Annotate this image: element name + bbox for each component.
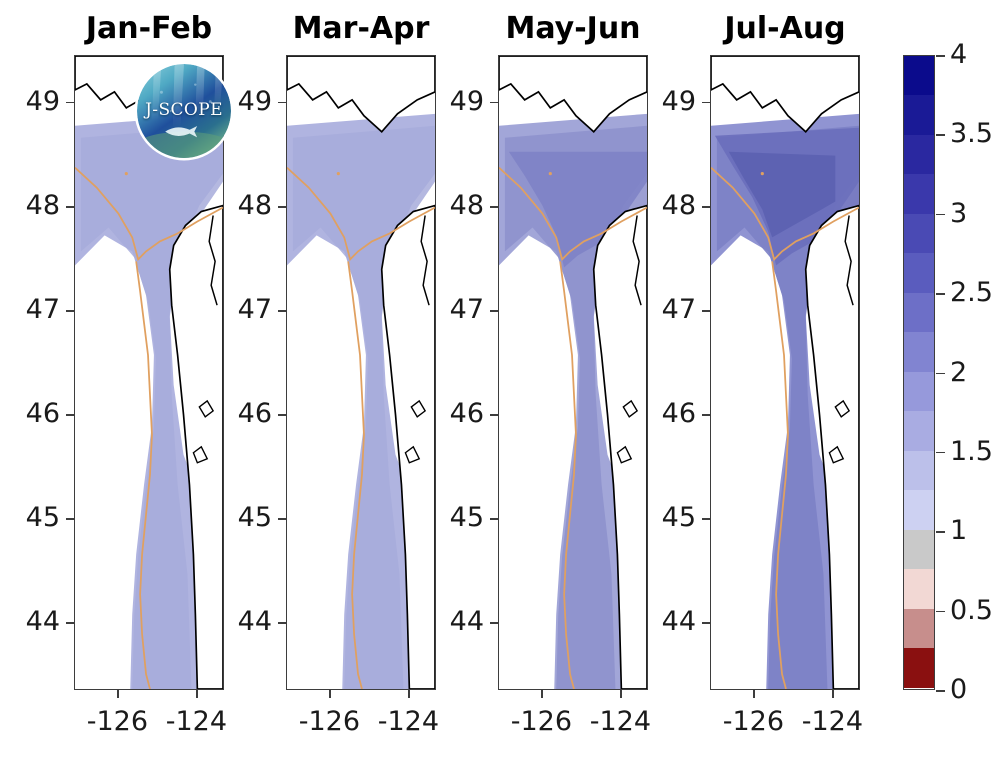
colorbar-tick-label: 3.5 (950, 120, 993, 147)
map-panel-jul-aug[interactable] (710, 55, 860, 690)
x-tick-label: -126 (284, 708, 374, 735)
x-tick-label: -124 (363, 708, 453, 735)
colorbar-band (904, 451, 934, 490)
y-tick (278, 102, 286, 104)
colorbar-tick-label: 2.5 (950, 279, 993, 306)
colorbar-band (904, 648, 934, 687)
y-tick-label: 44 (0, 608, 60, 635)
y-tick-label: 45 (420, 504, 484, 531)
colorbar-tick (936, 134, 945, 136)
y-tick-label: 46 (208, 400, 272, 427)
y-tick-label: 47 (420, 296, 484, 323)
y-tick-label: 45 (208, 504, 272, 531)
y-tick (66, 102, 74, 104)
y-tick-label: 46 (0, 400, 60, 427)
colorbar-tick (936, 55, 945, 57)
y-tick (490, 102, 498, 104)
panel-title-1: Jan-Feb (74, 14, 224, 44)
y-tick (278, 310, 286, 312)
x-tick (117, 690, 119, 698)
y-tick-label: 47 (632, 296, 696, 323)
y-tick-label: 48 (632, 192, 696, 219)
y-tick (278, 414, 286, 416)
colorbar-band (904, 95, 934, 134)
y-tick-label: 45 (632, 504, 696, 531)
colorbar-band (904, 411, 934, 450)
y-tick (66, 622, 74, 624)
y-tick (490, 622, 498, 624)
y-tick-label: 49 (420, 88, 484, 115)
y-tick (66, 518, 74, 520)
y-tick-label: 47 (208, 296, 272, 323)
y-tick-label: 46 (420, 400, 484, 427)
colorbar-tick (936, 293, 945, 295)
colorbar-tick-label: 2 (950, 359, 967, 386)
x-tick-label: -124 (151, 708, 241, 735)
y-tick-label: 48 (208, 192, 272, 219)
y-tick-label: 48 (420, 192, 484, 219)
colorbar-band (904, 332, 934, 371)
y-tick (278, 206, 286, 208)
map-panel-may-jun[interactable] (498, 55, 648, 690)
y-tick (66, 414, 74, 416)
x-tick (196, 690, 198, 698)
y-tick-label: 47 (0, 296, 60, 323)
x-tick-label: -124 (575, 708, 665, 735)
x-tick (753, 690, 755, 698)
panel-title-4: Jul-Aug (710, 14, 860, 44)
y-tick-label: 49 (208, 88, 272, 115)
x-tick (620, 690, 622, 698)
panel-title-3: May-Jun (498, 14, 648, 44)
y-tick-label: 49 (632, 88, 696, 115)
y-tick-label: 48 (0, 192, 60, 219)
x-tick-label: -124 (787, 708, 877, 735)
y-tick-label: 45 (0, 504, 60, 531)
colorbar-band (904, 569, 934, 608)
y-tick (702, 518, 710, 520)
x-tick (832, 690, 834, 698)
y-tick (702, 622, 710, 624)
colorbar[interactable] (903, 55, 935, 690)
colorbar-band (904, 609, 934, 648)
y-tick-label: 46 (632, 400, 696, 427)
contour-marker (761, 172, 764, 175)
y-tick (702, 310, 710, 312)
contour-marker (125, 172, 128, 175)
contour-marker (549, 172, 552, 175)
y-tick-label: 49 (0, 88, 60, 115)
x-tick-label: -126 (72, 708, 162, 735)
colorbar-band (904, 214, 934, 253)
colorbar-tick (936, 531, 945, 533)
y-tick (490, 414, 498, 416)
colorbar-tick (936, 690, 945, 692)
colorbar-tick (936, 452, 945, 454)
y-tick (278, 622, 286, 624)
colorbar-band (904, 293, 934, 332)
y-tick (490, 206, 498, 208)
contour-marker (337, 172, 340, 175)
colorbar-band (904, 530, 934, 569)
colorbar-band (904, 372, 934, 411)
y-tick (66, 206, 74, 208)
x-tick-label: -126 (496, 708, 586, 735)
y-tick-label: 44 (208, 608, 272, 635)
figure-canvas: Jan-Feb (0, 0, 1000, 761)
colorbar-tick (936, 373, 945, 375)
colorbar-tick (936, 611, 945, 613)
y-tick (702, 102, 710, 104)
y-tick (278, 518, 286, 520)
colorbar-tick-label: 0 (950, 676, 967, 703)
x-tick (408, 690, 410, 698)
x-tick-label: -126 (708, 708, 798, 735)
map-panel-mar-apr[interactable] (286, 55, 436, 690)
colorbar-tick-label: 1 (950, 517, 967, 544)
x-tick (541, 690, 543, 698)
colorbar-tick (936, 214, 945, 216)
colorbar-band (904, 135, 934, 174)
x-tick (329, 690, 331, 698)
y-tick (66, 310, 74, 312)
y-tick (702, 414, 710, 416)
colorbar-tick-label: 1.5 (950, 438, 993, 465)
y-tick (490, 518, 498, 520)
colorbar-tick-label: 3 (950, 200, 967, 227)
colorbar-band (904, 490, 934, 529)
colorbar-band (904, 174, 934, 213)
panel-title-2: Mar-Apr (286, 14, 436, 44)
colorbar-tick-label: 4 (950, 41, 967, 68)
y-tick-label: 44 (632, 608, 696, 635)
y-tick (702, 206, 710, 208)
colorbar-tick-label: 0.5 (950, 597, 993, 624)
colorbar-band (904, 56, 934, 95)
y-tick (490, 310, 498, 312)
colorbar-band (904, 253, 934, 292)
y-tick-label: 44 (420, 608, 484, 635)
